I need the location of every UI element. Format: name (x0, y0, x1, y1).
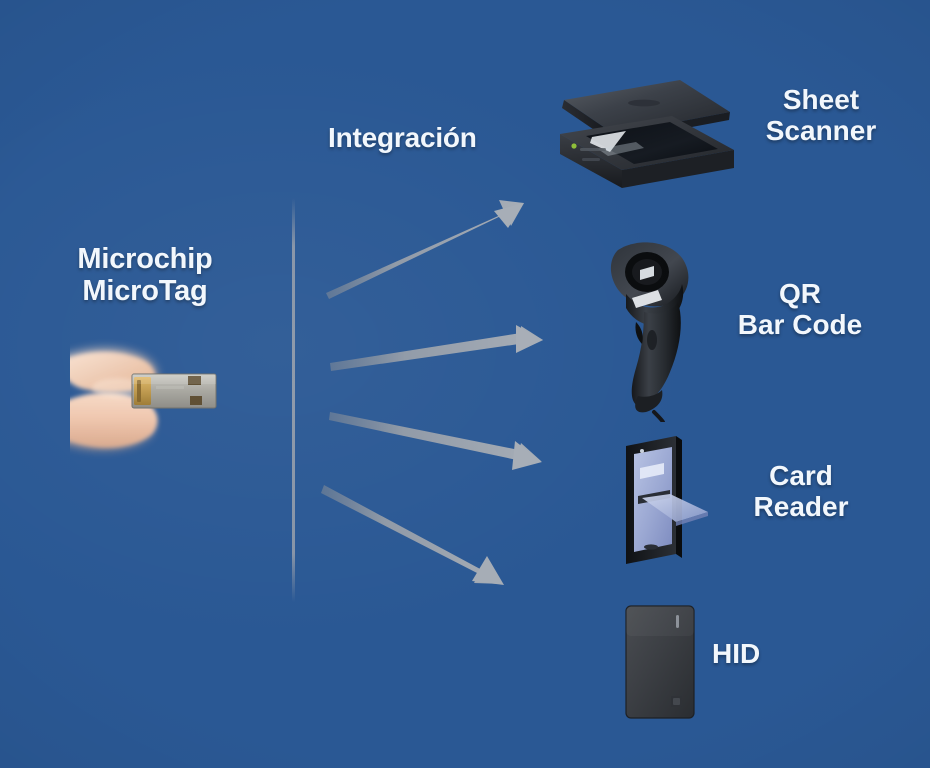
hid-proximity-card-image (624, 604, 696, 720)
arrow-to-qr-bar-code (330, 325, 543, 371)
arrow-to-card-reader (329, 412, 542, 470)
arrow-to-hid (321, 485, 504, 585)
card-reader-label: Card Reader (712, 460, 890, 523)
hid-label: HID (712, 638, 832, 669)
qr-bar-code-label: QR Bar Code (700, 278, 900, 341)
flatbed-sheet-scanner-image (552, 72, 742, 212)
sheet-scanner-label: Sheet Scanner (728, 84, 914, 147)
arrow-to-sheet-scanner (326, 200, 524, 299)
integration-diagram-canvas: Microchip MicroTag (0, 0, 930, 768)
